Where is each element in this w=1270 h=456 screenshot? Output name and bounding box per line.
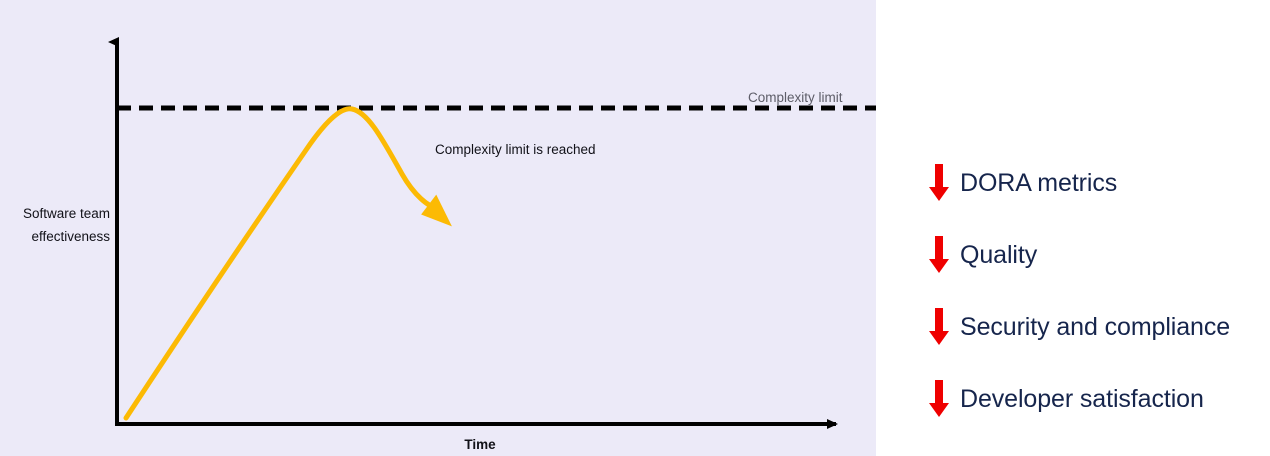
arrow-down-icon xyxy=(928,379,950,419)
impact-item-quality: Quality xyxy=(928,235,1037,275)
y-axis-label: Software team effectiveness xyxy=(0,202,110,248)
chart-graphic xyxy=(0,0,876,456)
x-axis-label: Time xyxy=(400,437,560,452)
chart-panel: Software team effectiveness Time Complex… xyxy=(0,0,876,456)
effectiveness-curve xyxy=(126,109,439,418)
complexity-limit-label: Complexity limit xyxy=(748,90,843,105)
impact-item-label: Quality xyxy=(960,241,1037,270)
impact-item-label: DORA metrics xyxy=(960,169,1117,198)
impact-item-label: Security and compliance xyxy=(960,313,1230,342)
curve-annotation-label: Complexity limit is reached xyxy=(435,142,596,157)
curve-arrowhead xyxy=(421,192,460,226)
impact-item-developer-satisfaction: Developer satisfaction xyxy=(928,379,1204,419)
arrow-down-icon xyxy=(928,163,950,203)
impact-item-label: Developer satisfaction xyxy=(960,385,1204,414)
arrow-down-icon xyxy=(928,235,950,275)
impacts-panel: DORA metrics Quality Security and compli… xyxy=(876,0,1270,456)
impact-item-dora-metrics: DORA metrics xyxy=(928,163,1117,203)
arrow-down-icon xyxy=(928,307,950,347)
impact-item-security-and-compliance: Security and compliance xyxy=(928,307,1230,347)
